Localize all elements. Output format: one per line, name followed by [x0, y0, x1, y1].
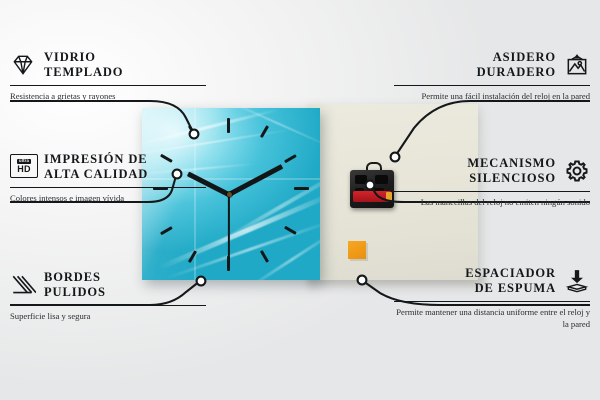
title-underline: [394, 191, 590, 192]
feature-description: Colores intensos e imagen vívida: [10, 192, 206, 204]
picture-hanger-icon: [564, 52, 590, 78]
gear-icon: [564, 158, 590, 184]
feature-description: Permite una fácil instalación del reloj …: [394, 90, 590, 102]
title-underline: [10, 305, 206, 306]
feature-title-line2: DE ESPUMA: [475, 281, 556, 295]
feature-description: Permite mantener una distancia uniforme …: [394, 306, 590, 330]
title-underline: [10, 85, 206, 86]
feature-description: Resistencia a grietas y rayones: [10, 90, 206, 102]
title-underline: [10, 187, 206, 188]
feature-title-line1: IMPRESIÓN DE: [44, 152, 148, 166]
title-underline: [394, 85, 590, 86]
feature-title-line2: ALTA CALIDAD: [44, 167, 148, 181]
polished-edges-icon: [10, 272, 36, 298]
feature-title-line2: TEMPLADO: [44, 65, 123, 79]
feature-title-line2: PULIDOS: [44, 285, 106, 299]
ultra-hd-icon: ultra HD: [10, 154, 36, 180]
feature-title-line2: DURADERO: [477, 65, 556, 79]
feature-title-line1: VIDRIO: [44, 50, 96, 64]
diamond-icon: [10, 52, 36, 78]
callout-durable-hanger: ASIDERO DURADERO Permite una fácil insta…: [394, 50, 590, 102]
callout-foam-spacer: ESPACIADOR DE ESPUMA Permite mantener un…: [394, 266, 590, 330]
infographic-canvas: VIDRIO TEMPLADO Resistencia a grietas y …: [0, 0, 600, 400]
title-underline: [394, 301, 590, 302]
foam-spacer-icon: [564, 268, 590, 294]
feature-title-line2: SILENCIOSO: [469, 171, 556, 185]
feature-title-line1: MECANISMO: [467, 156, 556, 170]
feature-description: Superficie lisa y segura: [10, 310, 206, 322]
callout-tempered-glass: VIDRIO TEMPLADO Resistencia a grietas y …: [10, 50, 206, 102]
callout-polished-edges: BORDES PULIDOS Superficie lisa y segura: [10, 270, 206, 322]
feature-title-line1: ASIDERO: [493, 50, 556, 64]
callout-silent-mechanism: MECANISMO SILENCIOSO Las manecillas del …: [394, 156, 590, 208]
callout-hd-print: ultra HD IMPRESIÓN DE ALTA CALIDAD Color…: [10, 152, 206, 204]
feature-title-line1: BORDES: [44, 270, 101, 284]
feature-title-line1: ESPACIADOR: [465, 266, 556, 280]
hd-badge-text: HD: [17, 165, 31, 174]
feature-description: Las manecillas del reloj no emiten ningú…: [394, 196, 590, 208]
